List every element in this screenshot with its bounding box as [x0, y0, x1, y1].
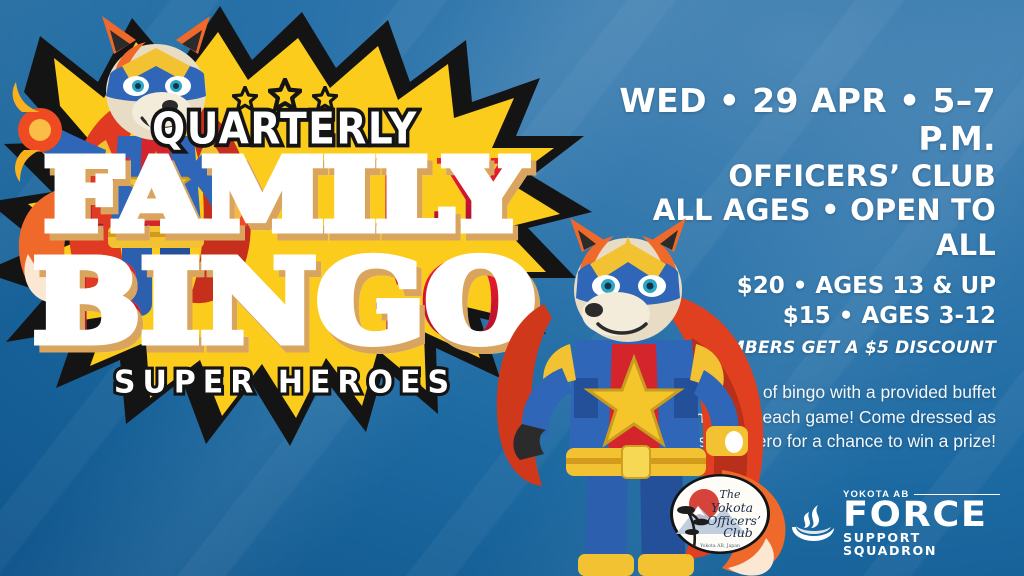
event-venue: OFFICERS’ CLUB: [596, 159, 996, 194]
svg-text:Yokota AB, Japan: Yokota AB, Japan: [699, 543, 740, 549]
officers-club-seal: The Yokota Officers’ Club Yokota AB, Jap…: [668, 472, 772, 556]
fss-subtitle: SUPPORT SQUADRON: [843, 532, 1003, 557]
svg-text:Club: Club: [723, 525, 753, 540]
fss-logo: YOKOTA AB FORCE SUPPORT SQUADRON: [788, 492, 1000, 554]
fss-name: FORCE: [843, 501, 1008, 530]
poster-canvas: QUARTERLY FAMILY FAMILY FAMILY BINGO BIN…: [0, 0, 1024, 576]
fss-flame-swoosh-icon: [788, 501, 836, 545]
hero-character-left: [10, 8, 300, 318]
fss-logo-text: YOKOTA AB FORCE SUPPORT SQUADRON: [843, 489, 1000, 557]
event-datetime: WED • 29 APR • 5–7 P.M.: [596, 82, 996, 159]
